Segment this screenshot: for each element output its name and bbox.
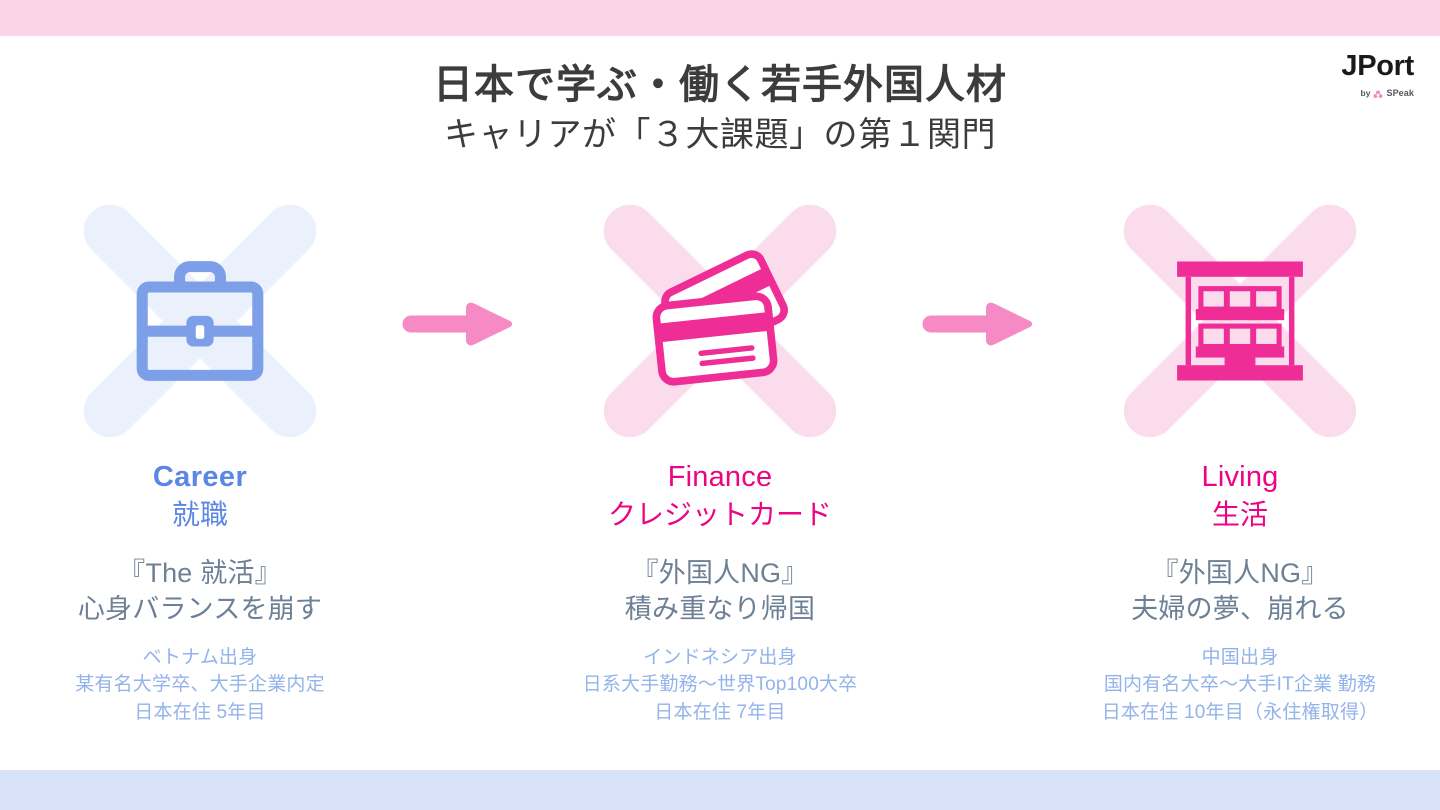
living-icon-stage (1105, 196, 1375, 446)
career-detail-line-2: 某有名大学卒、大手企業内定 (75, 671, 325, 699)
column-finance: Finance クレジットカード 『外国人NG』 積み重なり帰国 インドネシア出… (520, 196, 920, 726)
career-icon-stage (65, 196, 335, 446)
three-issues-row: Career 就職 『The 就活』 心身バランスを崩す ベトナム出身 某有名大… (0, 196, 1440, 756)
finance-body-line-1: 『外国人NG』 (625, 556, 815, 592)
career-details: ベトナム出身 某有名大学卒、大手企業内定 日本在住 5年目 (75, 644, 325, 727)
bottom-decorative-band (0, 770, 1440, 810)
finance-detail-line-2: 日系大手勤務〜世界Top100大卒 (583, 671, 858, 699)
living-body: 『外国人NG』 夫婦の夢、崩れる (1131, 556, 1349, 627)
career-detail-line-3: 日本在住 5年目 (75, 699, 325, 727)
living-detail-line-3: 日本在住 10年目（永住権取得） (1102, 699, 1379, 727)
finance-icon-stage (585, 196, 855, 446)
arrow-right-icon (921, 294, 1039, 354)
finance-body-line-2: 積み重なり帰国 (625, 592, 815, 628)
slide-root: JPort by SPeak 日本で学ぶ・働く若手外国人材 キャリアが「３大課題… (0, 0, 1440, 810)
career-body: 『The 就活』 心身バランスを崩す (78, 556, 322, 627)
column-living: Living 生活 『外国人NG』 夫婦の夢、崩れる 中国出身 国内有名大卒〜大… (1040, 196, 1440, 726)
living-detail-line-2: 国内有名大卒〜大手IT企業 勤務 (1102, 671, 1379, 699)
column-career: Career 就職 『The 就活』 心身バランスを崩す ベトナム出身 某有名大… (0, 196, 400, 726)
page-subtitle: キャリアが「３大課題」の第１関門 (0, 115, 1440, 156)
career-body-line-1: 『The 就活』 (78, 556, 322, 592)
arrow-cell-1 (400, 196, 520, 354)
title-block: 日本で学ぶ・働く若手外国人材 キャリアが「３大課題」の第１関門 (0, 62, 1440, 156)
finance-heading-en: Finance (668, 460, 773, 495)
finance-details: インドネシア出身 日系大手勤務〜世界Top100大卒 日本在住 7年目 (583, 644, 858, 727)
top-decorative-band (0, 0, 1440, 36)
apartment-building-icon (1155, 236, 1325, 406)
finance-heading-ja: クレジットカード (608, 497, 832, 532)
arrow-cell-2 (920, 196, 1040, 354)
arrow-right-icon (401, 294, 519, 354)
career-detail-line-1: ベトナム出身 (75, 644, 325, 672)
living-heading-ja: 生活 (1212, 497, 1268, 532)
page-title: 日本で学ぶ・働く若手外国人材 (0, 62, 1440, 109)
career-body-line-2: 心身バランスを崩す (78, 592, 322, 628)
finance-detail-line-1: インドネシア出身 (583, 644, 858, 672)
living-detail-line-1: 中国出身 (1102, 644, 1379, 672)
living-heading-en: Living (1202, 460, 1279, 495)
finance-detail-line-3: 日本在住 7年目 (583, 699, 858, 727)
living-body-line-2: 夫婦の夢、崩れる (1131, 592, 1349, 628)
credit-cards-icon (635, 236, 805, 406)
finance-body: 『外国人NG』 積み重なり帰国 (625, 556, 815, 627)
briefcase-icon (115, 236, 285, 406)
living-body-line-1: 『外国人NG』 (1131, 556, 1349, 592)
living-details: 中国出身 国内有名大卒〜大手IT企業 勤務 日本在住 10年目（永住権取得） (1102, 644, 1379, 727)
career-heading-en: Career (153, 460, 247, 495)
career-heading-ja: 就職 (172, 497, 228, 532)
